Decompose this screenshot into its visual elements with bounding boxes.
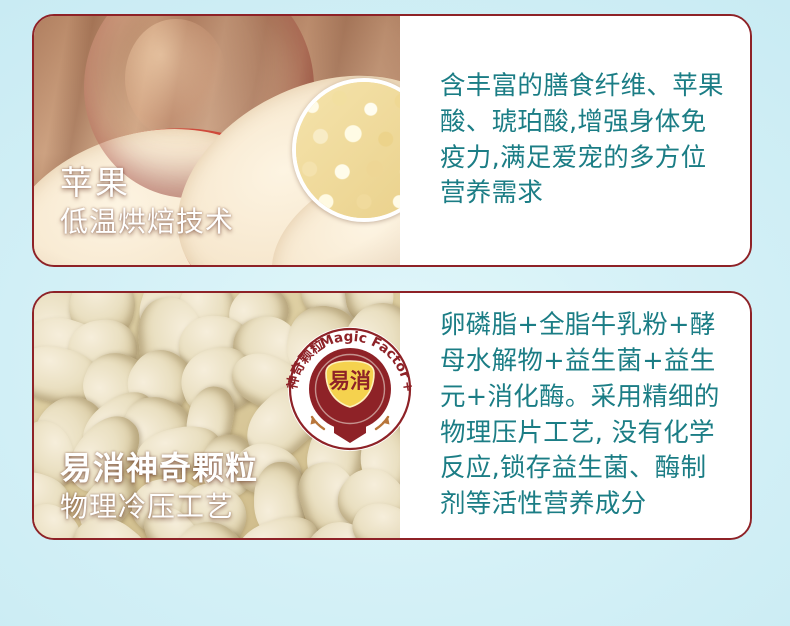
diced-apple-texture (296, 82, 400, 218)
apple-subtitle: 低温烘焙技术 (60, 205, 234, 239)
magic-factor-seal: 神奇颗粒 Magic Factor + 易消 (286, 325, 414, 453)
apple-body-text: 含丰富的膳食纤维、苹果酸、琥珀酸,增强身体免疫力,满足爱宠的多方位营养需求 (400, 69, 750, 212)
grain-title: 易消神奇颗粒 (60, 450, 258, 488)
promo-page: 苹果 低温烘焙技术 含丰富的膳食纤维、苹果酸、琥珀酸,增强身体免疫力,满足爱宠的… (0, 0, 790, 626)
grain-body-text: 卵磷脂+全脂牛乳粉+酵母水解物+益生菌+益生元+消化酶。采用精细的物理压片工艺,… (400, 308, 750, 522)
apple-copy-panel: 含丰富的膳食纤维、苹果酸、琥珀酸,增强身体免疫力,满足爱宠的多方位营养需求 (400, 16, 750, 265)
grain-subtitle: 物理冷压工艺 (60, 490, 258, 524)
grain-copy-panel: 卵磷脂+全脂牛乳粉+酵母水解物+益生菌+益生元+消化酶。采用精细的物理压片工艺,… (400, 293, 750, 538)
feature-card-apple: 苹果 低温烘焙技术 含丰富的膳食纤维、苹果酸、琥珀酸,增强身体免疫力,满足爱宠的… (32, 14, 752, 267)
magic-factor-seal-graphic: 神奇颗粒 Magic Factor + 易消 (286, 325, 414, 453)
apple-photo: 苹果 低温烘焙技术 (34, 16, 400, 265)
apple-title: 苹果 (60, 164, 234, 203)
apple-title-block: 苹果 低温烘焙技术 (60, 164, 234, 239)
seal-shield-text: 易消 (329, 369, 371, 393)
grain-title-block: 易消神奇颗粒 物理冷压工艺 (60, 450, 258, 524)
apple-dice-inset (292, 78, 400, 222)
